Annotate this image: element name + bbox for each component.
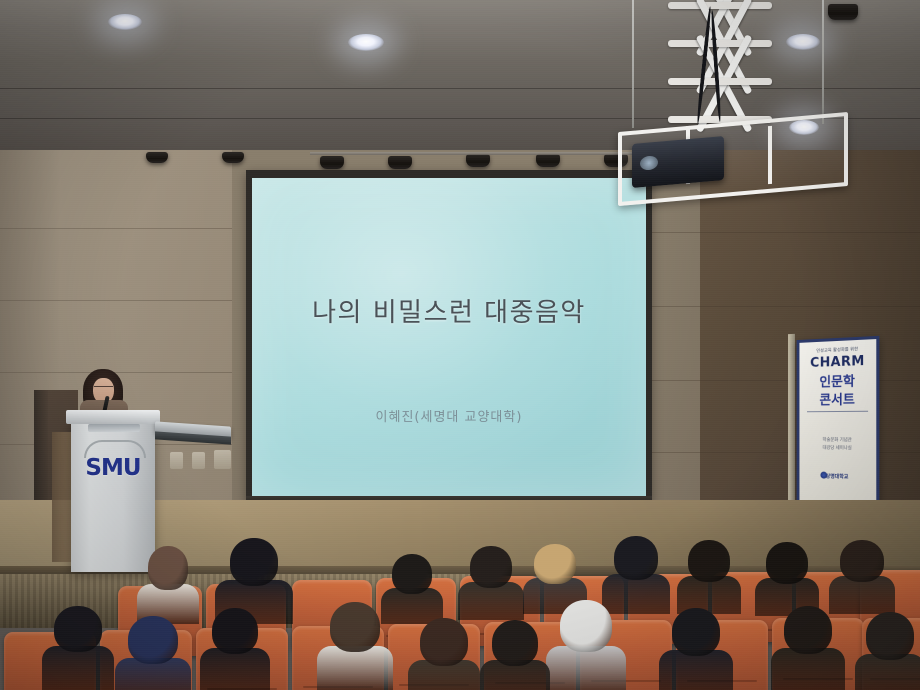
wall-socket (192, 452, 205, 469)
banner-frame-edge (788, 334, 795, 510)
wall-panel-seam (0, 300, 232, 301)
wall-panel-seam (652, 452, 920, 453)
event-banner: 인성교육 활성화를 위한 CHARM 인문학 콘서트 학술문화 기념관 대강당 … (797, 336, 880, 514)
audience-member-head (672, 608, 720, 656)
banner-logo-text: 상명대학교 (799, 472, 876, 481)
audience-member-head (492, 620, 538, 666)
wall-panel-seam (652, 232, 920, 233)
lecture-hall-photo: 나의 비밀스런 대중음악 이혜진(세명대 교양대학) 인성교육 활성화를 위한 … (0, 0, 920, 690)
audience-member-head (230, 538, 278, 586)
banner-brand: CHARM (799, 353, 876, 371)
ceiling-speaker (466, 154, 490, 167)
wall-panel-seam (652, 306, 920, 307)
banner-line-2: 콘서트 (799, 388, 876, 408)
audience-member-torso (546, 646, 626, 690)
audience-member-head (840, 540, 884, 582)
audience-member-torso (42, 646, 114, 690)
banner-divider (807, 411, 868, 412)
podium-logo: SMU (71, 455, 155, 481)
lift-hanger-wire (632, 0, 634, 128)
audience-member-head (54, 606, 102, 652)
podium-top-surface (66, 410, 160, 424)
ceiling-speaker (388, 156, 412, 169)
audience-member-head (330, 602, 380, 652)
audience-member-head (470, 546, 512, 588)
wall-socket (170, 452, 183, 469)
audience-member-head (534, 544, 576, 584)
recessed-downlight (348, 34, 384, 51)
ceiling-speaker (320, 156, 344, 169)
slide-title: 나의 비밀스런 대중음악 (252, 292, 646, 329)
audience-member-head (392, 554, 432, 594)
audience-member-head (560, 600, 612, 652)
presenter-glasses (94, 386, 113, 391)
lift-hanger-wire (822, 0, 824, 124)
slide-subtitle: 이혜진(세명대 교양대학) (252, 406, 646, 425)
audience-member-torso (659, 650, 733, 690)
audience-member-head (614, 536, 658, 580)
audience-member-head (784, 606, 832, 654)
projector-lift-assembly (618, 0, 858, 210)
audience-member-torso (771, 648, 845, 690)
audience-member-head (866, 612, 914, 660)
audience-member-torso (200, 648, 270, 690)
ceiling-speaker (536, 154, 560, 167)
audience-member-head (420, 618, 468, 666)
audience-member-head (128, 616, 178, 664)
audience-member-torso (602, 574, 670, 614)
lighting-track (310, 152, 650, 155)
wall-panel-seam (652, 380, 920, 381)
banner-sub-line-1: 학술문화 기념관 (799, 437, 876, 444)
audience-member-head (212, 608, 258, 654)
projection-screen (252, 178, 646, 496)
ceiling-speaker (222, 152, 244, 163)
ceiling-speaker (146, 152, 168, 163)
mount-crossbar (768, 126, 772, 184)
audience-member-head (766, 542, 808, 584)
audience-member-torso (317, 646, 393, 690)
podium-lip (88, 424, 140, 432)
recessed-downlight (108, 14, 142, 30)
audience-member-head (688, 540, 730, 582)
wall-socket (214, 450, 231, 469)
audience-area (0, 520, 920, 690)
wall-panel-seam (0, 228, 232, 229)
banner-sub-line-2: 대강당 세미나실 (799, 445, 876, 452)
audience-member-head (148, 546, 188, 590)
